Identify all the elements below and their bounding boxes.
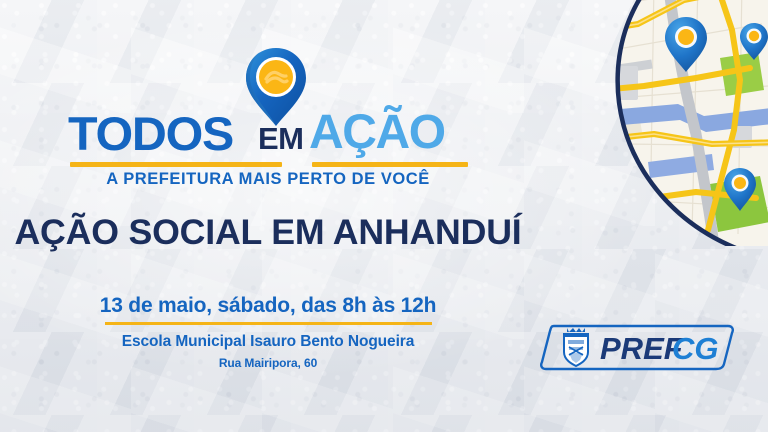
wordmark-acao: AÇÃO (309, 109, 445, 157)
poster-canvas: TODOS EM AÇÃO A PREFEITURA MAIS PERTO DE… (0, 0, 768, 432)
wordmark-underline-left (70, 162, 282, 167)
todos-em-acao-logo: TODOS EM AÇÃO A PREFEITURA MAIS PERTO DE… (62, 48, 474, 196)
date-underline-rule (105, 322, 432, 325)
wordmark-em: EM (258, 123, 303, 154)
event-address: Rua Mairipora, 60 (0, 355, 536, 371)
prefcg-text-cg: CG (672, 331, 719, 366)
event-venue: Escola Municipal Isauro Bento Nogueira (0, 332, 536, 352)
wordmark-todos: TODOS (68, 110, 233, 157)
page-title: AÇÃO SOCIAL EM ANHANDUÍ (0, 212, 541, 254)
map-illustration (592, 0, 768, 246)
city-coat-of-arms-icon (564, 328, 588, 366)
prefcg-logo: PREF CG (538, 322, 734, 372)
wordmark-underline-right (312, 162, 468, 167)
brand-tagline: A PREFEITURA MAIS PERTO DE VOCÊ (62, 170, 474, 189)
event-date: 13 de maio, sábado, das 8h às 12h (0, 293, 536, 319)
wordmark: TODOS EM AÇÃO (62, 110, 474, 162)
